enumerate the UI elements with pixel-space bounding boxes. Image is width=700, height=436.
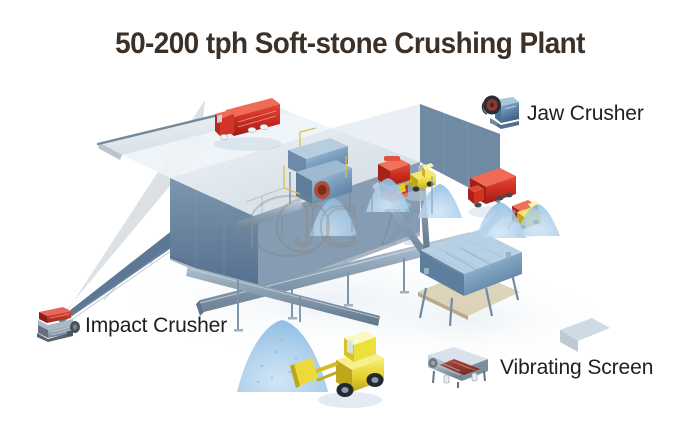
page-title: 50-200 tph Soft-stone Crushing Plant (25, 26, 676, 62)
vibrating-screen-icon (424, 341, 496, 394)
callout-jaw-crusher[interactable]: Jaw Crusher (479, 92, 644, 135)
impact-crusher-icon (33, 303, 81, 348)
jaw-crusher-icon (479, 92, 523, 135)
callout-impact-crusher[interactable]: Impact Crusher (33, 303, 227, 348)
callout-label-vibrating-screen: Vibrating Screen (500, 356, 653, 379)
callout-vibrating-screen[interactable]: Vibrating Screen (424, 341, 653, 394)
crushing-plant-infographic: 50-200 tph Soft-stone Crushing Plant (0, 0, 700, 436)
feed-truck (214, 98, 282, 151)
callout-label-impact-crusher: Impact Crusher (85, 314, 227, 337)
callout-label-jaw-crusher: Jaw Crusher (527, 102, 644, 125)
